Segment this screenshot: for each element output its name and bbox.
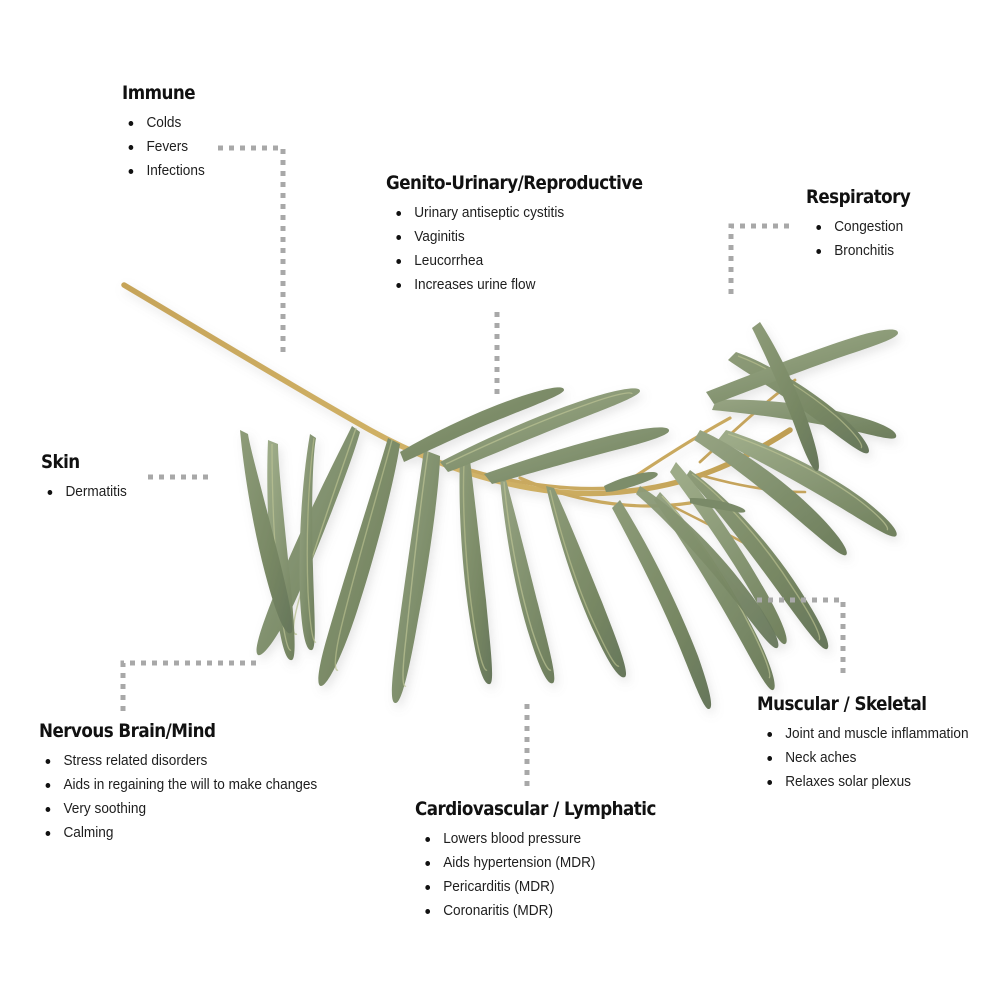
list-item: Infections <box>122 159 205 183</box>
list-item: Leucorrhea <box>386 249 660 273</box>
leaf <box>460 458 493 684</box>
bullet-icon <box>816 249 821 254</box>
section-skin: Skin Dermatitis <box>41 451 132 504</box>
bullet-icon <box>767 732 772 737</box>
leaf <box>484 427 669 484</box>
bullet-icon <box>129 169 134 174</box>
main-stem <box>124 285 790 493</box>
list-item-label: Congestion <box>834 219 903 235</box>
leaf <box>267 440 294 660</box>
list-item: Very soothing <box>39 797 317 821</box>
leaf <box>500 478 554 683</box>
list-item-label: Aids in regaining the will to make chang… <box>63 777 317 793</box>
bullet-icon <box>129 145 134 150</box>
leaf <box>690 498 745 513</box>
leaf <box>612 500 711 709</box>
list-item: Fevers <box>122 135 205 159</box>
list-item-label: Dermatitis <box>65 484 126 500</box>
bullet-icon <box>767 756 772 761</box>
section-list-nervous: Stress related disorders Aids in regaini… <box>39 749 335 845</box>
list-item-label: Joint and muscle inflammation <box>785 726 968 742</box>
stem-shoot-3 <box>612 418 730 492</box>
leaf <box>706 330 898 404</box>
list-item: Aids hypertension (MDR) <box>415 851 672 875</box>
bullet-icon <box>396 283 401 288</box>
bullet-icon <box>425 885 430 890</box>
leaf-midrib <box>692 474 820 640</box>
leaf-cluster-center <box>400 387 669 684</box>
leaf <box>440 388 640 472</box>
list-item-label: Stress related disorders <box>63 753 207 769</box>
bullet-icon <box>425 837 430 842</box>
list-item: Joint and muscle inflammation <box>757 722 969 746</box>
bullet-icon <box>46 807 51 812</box>
leaf <box>257 426 360 655</box>
section-immune: Immune Colds Fevers Infections <box>122 82 210 183</box>
leaf <box>694 430 847 555</box>
bullet-icon <box>816 225 821 230</box>
list-item: Vaginitis <box>386 225 660 249</box>
list-item-label: Urinary antiseptic cystitis <box>414 205 564 221</box>
list-item-label: Calming <box>63 825 113 841</box>
bullet-icon <box>46 831 51 836</box>
connector-muscular <box>757 600 843 673</box>
bullet-icon <box>46 759 51 764</box>
connector-nervous <box>123 663 256 711</box>
leaf-midrib <box>403 452 428 686</box>
section-list-genito: Urinary antiseptic cystitis Vaginitis Le… <box>386 201 678 297</box>
leaf-midrib <box>662 496 770 678</box>
bullet-icon <box>425 861 430 866</box>
section-title-genito: Genito-Urinary/Reproductive <box>386 172 643 194</box>
section-muscular-skeletal: Muscular / Skeletal Joint and muscle inf… <box>757 693 982 794</box>
list-item: Bronchitis <box>806 239 917 263</box>
list-item: Calming <box>39 821 317 845</box>
list-item-label: Increases urine flow <box>414 277 535 293</box>
list-item: Increases urine flow <box>386 273 660 297</box>
leaf-midrib <box>272 444 291 650</box>
infographic-canvas: Immune Colds Fevers Infections Genito-Ur… <box>0 0 1000 1000</box>
section-list-respiratory: Congestion Bronchitis <box>806 215 924 263</box>
stem-shoot-2 <box>520 478 690 506</box>
list-item: Pericarditis (MDR) <box>415 875 672 899</box>
leaf <box>752 322 819 471</box>
list-item-label: Aids hypertension (MDR) <box>443 855 595 871</box>
leaf <box>546 486 626 677</box>
stem-shoot-4 <box>700 380 795 462</box>
stem-shoot-6 <box>660 500 775 560</box>
list-item: Dermatitis <box>41 480 127 504</box>
section-list-immune: Colds Fevers Infections <box>122 111 210 183</box>
branch-group <box>124 285 898 709</box>
connector-respiratory <box>731 226 789 296</box>
leaf-midrib <box>463 462 487 670</box>
list-item-label: Infections <box>146 163 204 179</box>
connector-immune <box>218 148 283 356</box>
list-item-label: Pericarditis (MDR) <box>443 879 554 895</box>
list-item-label: Neck aches <box>785 750 856 766</box>
list-item: Lowers blood pressure <box>415 827 672 851</box>
section-list-muscular: Joint and muscle inflammation Neck aches… <box>757 722 982 794</box>
leaf <box>299 434 316 650</box>
bullet-icon <box>396 211 401 216</box>
list-item: Coronaritis (MDR) <box>415 899 672 923</box>
stem-shoot-1 <box>470 470 625 489</box>
leaf <box>604 472 658 492</box>
leaf-buds <box>604 472 745 513</box>
list-item: Neck aches <box>757 746 969 770</box>
leaf-midrib <box>728 434 888 530</box>
section-genito-urinary-reproductive: Genito-Urinary/Reproductive Urinary anti… <box>386 172 678 297</box>
bullet-icon <box>425 909 430 914</box>
leaf-midrib <box>294 428 356 634</box>
section-title-nervous: Nervous Brain/Mind <box>39 720 299 742</box>
section-title-muscular: Muscular / Skeletal <box>757 693 955 715</box>
section-list-skin: Dermatitis <box>41 480 132 504</box>
leaf-midrib <box>738 356 862 448</box>
leaf <box>240 430 293 633</box>
list-item-label: Colds <box>146 115 181 131</box>
list-item: Colds <box>122 111 205 135</box>
list-item-label: Very soothing <box>63 801 146 817</box>
bullet-icon <box>396 259 401 264</box>
leaf-midrib <box>446 393 632 464</box>
stem-shoot-5 <box>700 475 805 492</box>
section-list-cardio: Lowers blood pressure Aids hypertension … <box>415 827 689 923</box>
list-item-label: Bronchitis <box>834 243 894 259</box>
bullet-icon <box>767 780 772 785</box>
leaf <box>654 492 775 690</box>
section-title-skin: Skin <box>41 451 121 473</box>
list-item-label: Leucorrhea <box>414 253 483 269</box>
leaf-cluster-left <box>240 426 440 703</box>
leaf <box>318 438 400 686</box>
leaf <box>712 400 896 439</box>
section-title-respiratory: Respiratory <box>806 186 910 208</box>
section-respiratory: Respiratory Congestion Bronchitis <box>806 186 924 263</box>
list-item: Congestion <box>806 215 917 239</box>
leaf <box>392 450 440 703</box>
leaf-midrib <box>335 440 392 670</box>
bullet-icon <box>46 783 51 788</box>
list-item-label: Fevers <box>146 139 188 155</box>
section-title-immune: Immune <box>122 82 200 104</box>
bullet-icon <box>129 121 134 126</box>
section-nervous-brain-mind: Nervous Brain/Mind Stress related disord… <box>39 720 335 845</box>
list-item: Urinary antiseptic cystitis <box>386 201 660 225</box>
leaf <box>636 486 778 648</box>
leaf-midrib <box>550 490 619 666</box>
list-item: Stress related disorders <box>39 749 317 773</box>
list-item-label: Vaginitis <box>414 229 465 245</box>
list-item-label: Lowers blood pressure <box>443 831 581 847</box>
leaf-midrib <box>307 438 316 642</box>
leaf-cluster-right <box>612 322 898 709</box>
leaf <box>728 352 869 453</box>
list-item-label: Relaxes solar plexus <box>785 774 911 790</box>
leaf <box>400 387 564 462</box>
leaf-midrib <box>504 482 551 670</box>
section-title-cardio: Cardiovascular / Lymphatic <box>415 798 656 820</box>
leaf <box>670 462 787 644</box>
leaf <box>718 430 897 537</box>
leaf <box>686 470 828 649</box>
section-cardiovascular-lymphatic: Cardiovascular / Lymphatic Lowers blood … <box>415 798 689 923</box>
list-item-label: Coronaritis (MDR) <box>443 903 553 919</box>
list-item: Relaxes solar plexus <box>757 770 969 794</box>
list-item: Aids in regaining the will to make chang… <box>39 773 317 797</box>
bullet-icon <box>396 235 401 240</box>
bullet-icon <box>48 490 53 495</box>
